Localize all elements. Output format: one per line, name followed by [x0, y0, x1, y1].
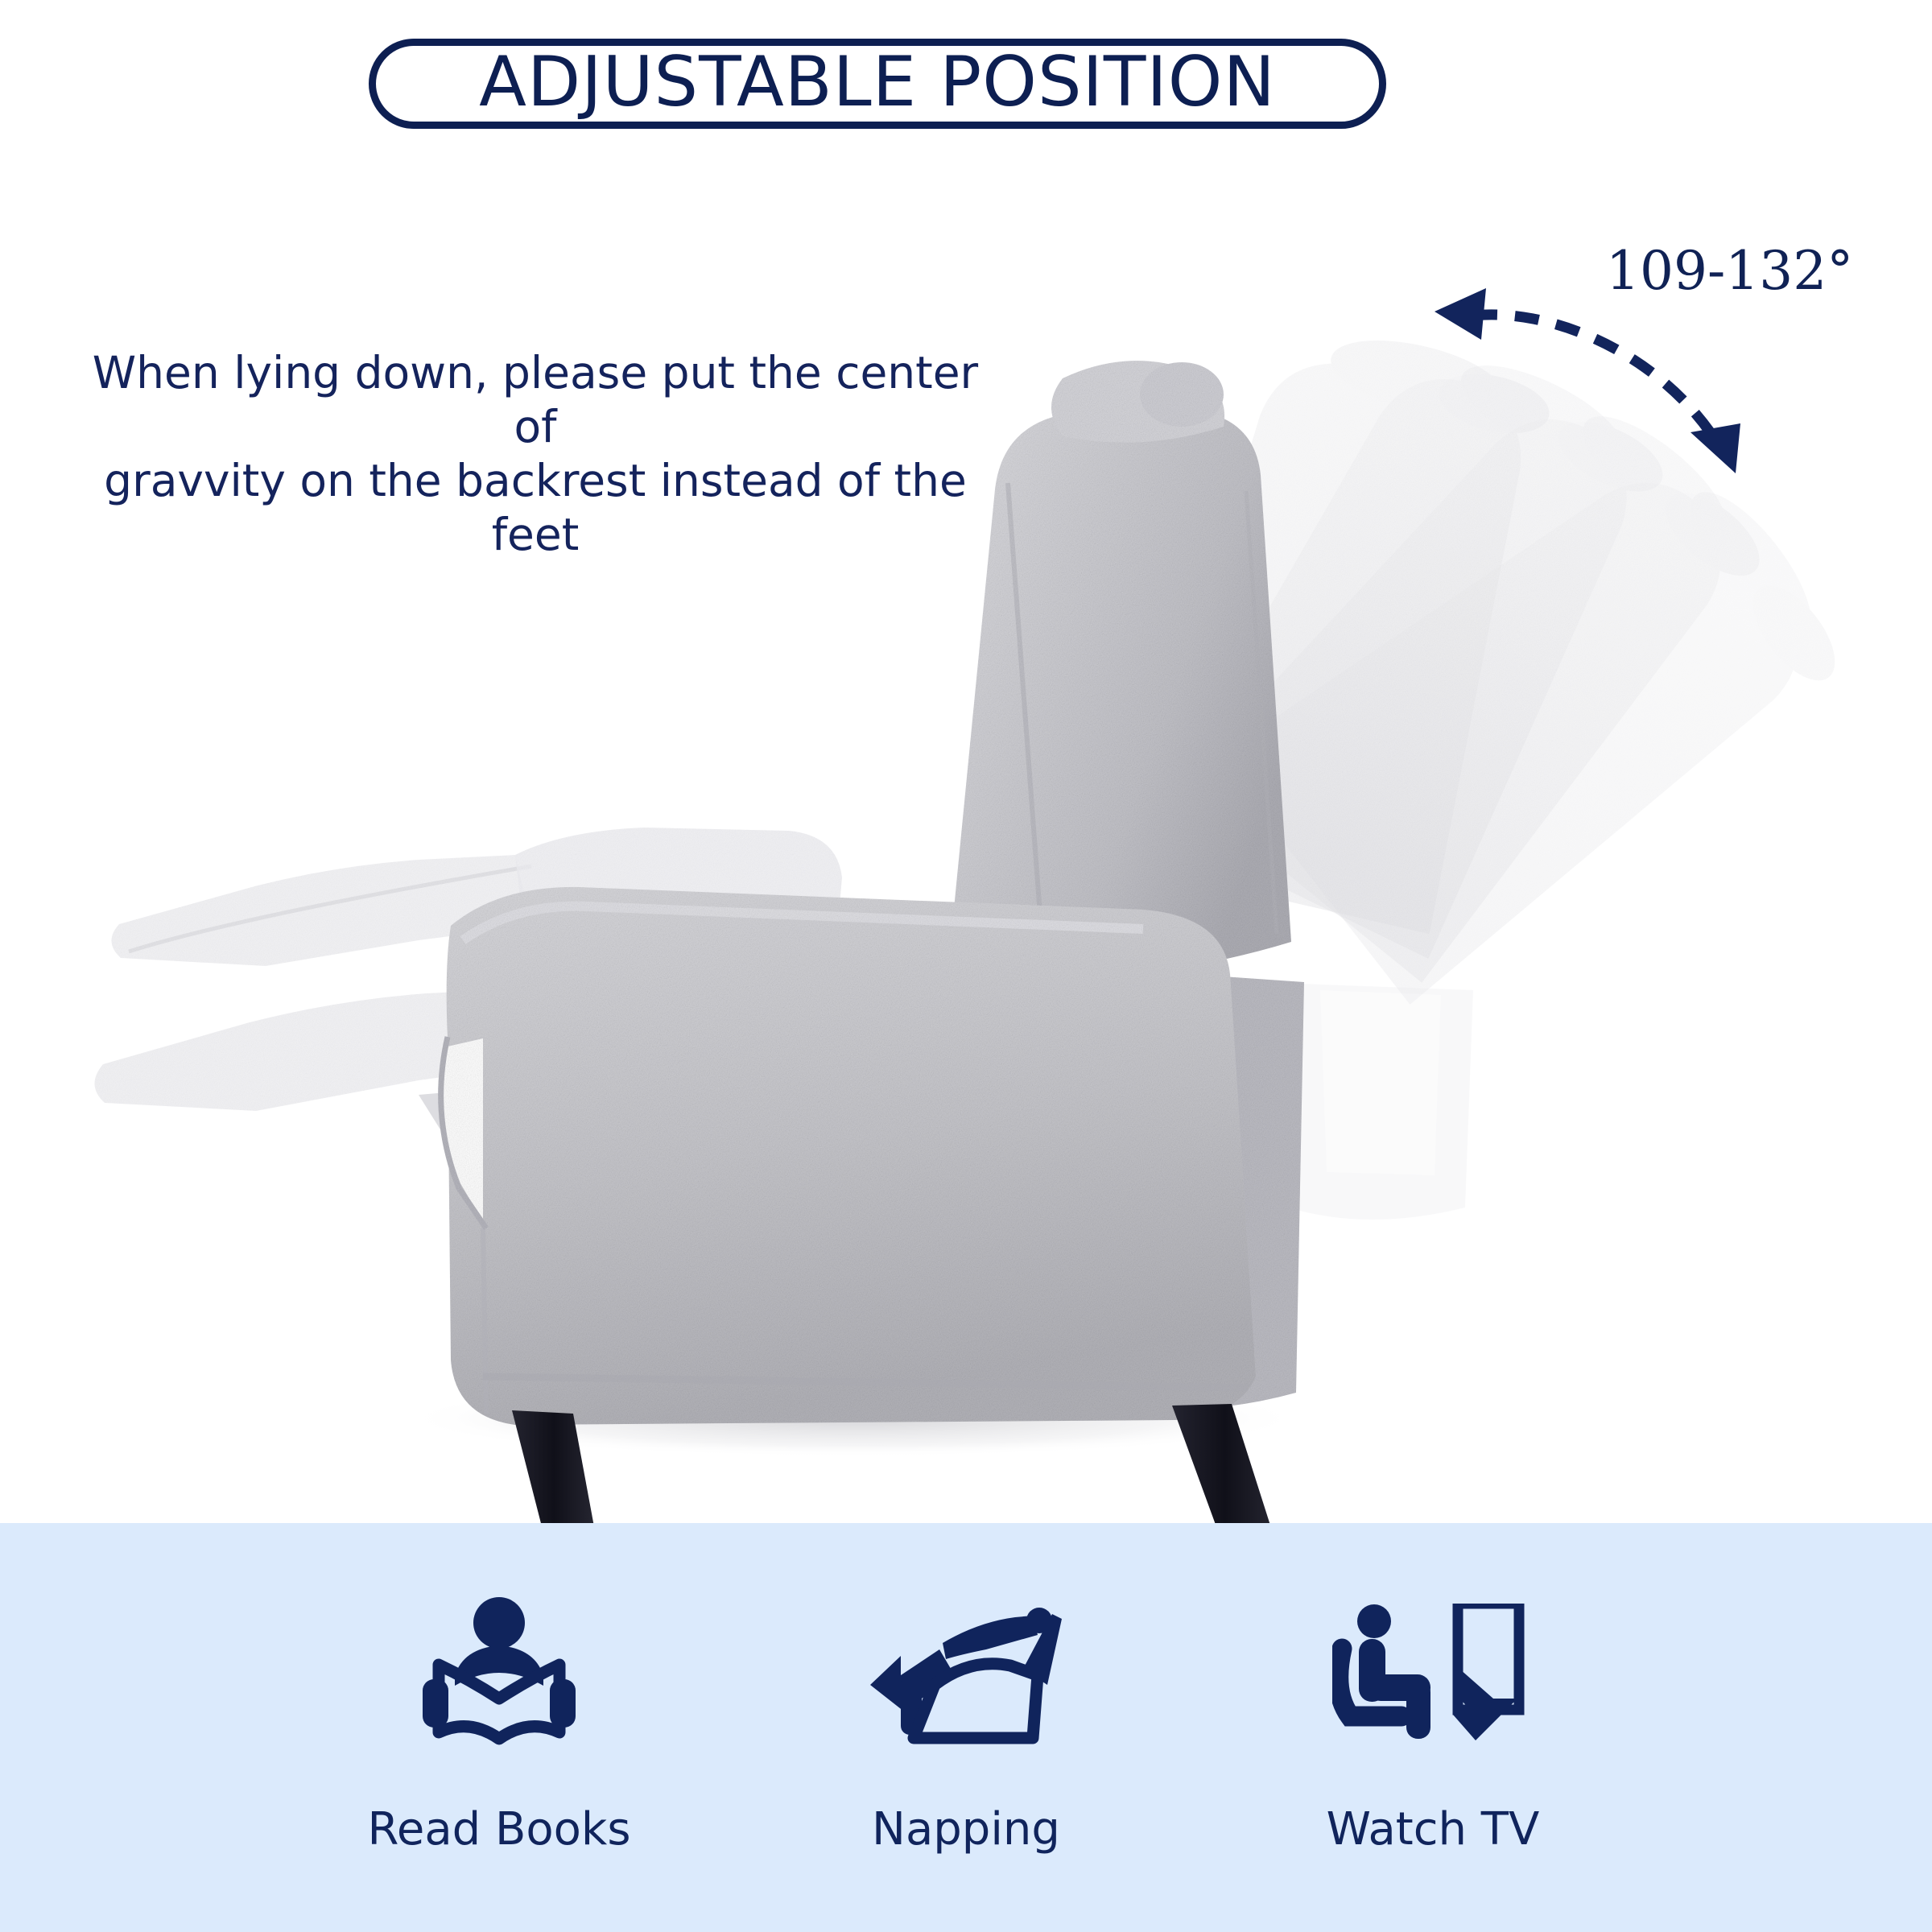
feature-napping: Napping [797, 1579, 1135, 1856]
napping-icon [865, 1579, 1067, 1781]
recliner-chair-illustration [0, 137, 1932, 1523]
page-title-badge: ADJUSTABLE POSITION [369, 39, 1386, 129]
feature-label: Napping [872, 1803, 1060, 1856]
read-books-icon [407, 1579, 592, 1781]
feature-label: Read Books [367, 1803, 630, 1856]
feature-band: Read Books Napping [0, 1523, 1932, 1932]
watch-tv-icon [1332, 1579, 1534, 1781]
feature-label: Watch TV [1327, 1803, 1540, 1856]
infographic-canvas: ADJUSTABLE POSITION When lying down, ple… [0, 0, 1932, 1932]
page-title: ADJUSTABLE POSITION [479, 47, 1276, 117]
feature-watch-tv: Watch TV [1264, 1579, 1602, 1856]
feature-read-books: Read Books [330, 1579, 668, 1856]
